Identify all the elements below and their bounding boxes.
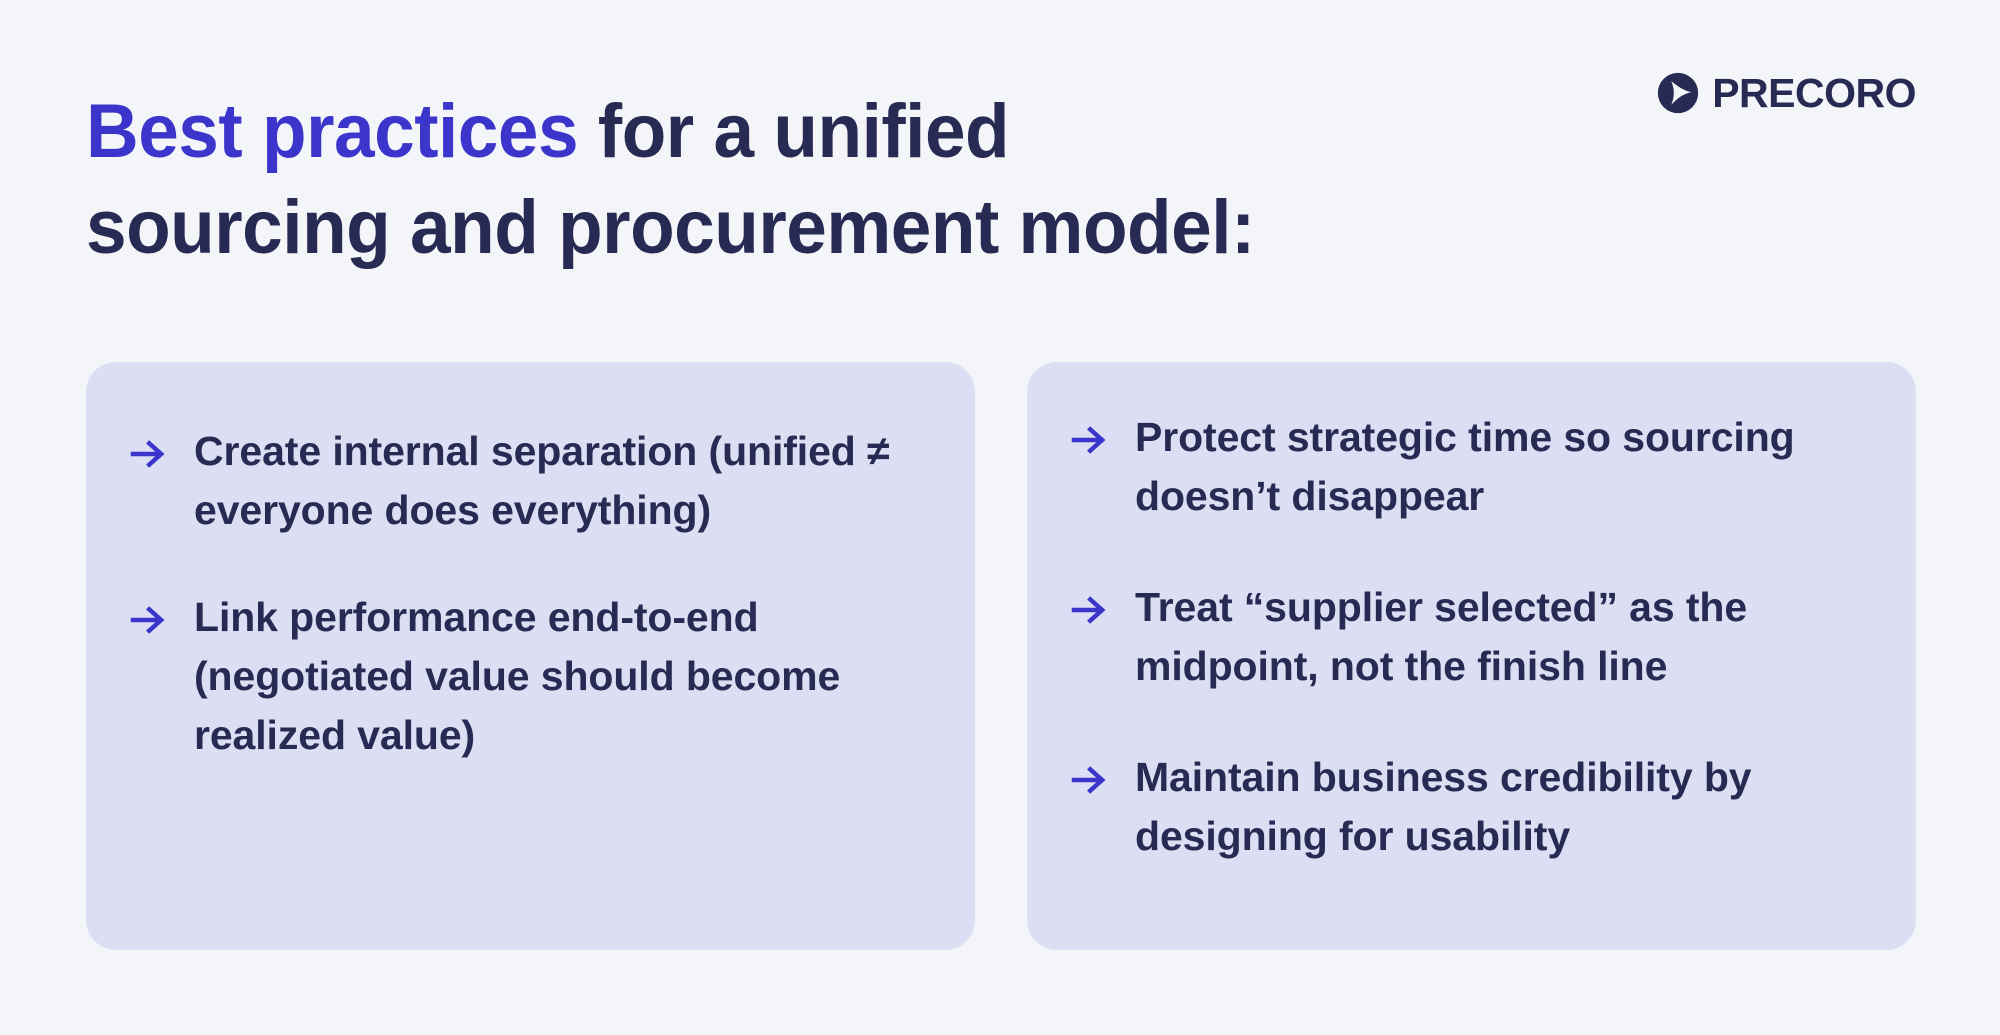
list-item-label: Treat “supplier selected” as the midpoin… [1135,578,1855,696]
precoro-circle-play-icon [1657,72,1699,114]
left-card-bullet-list: Create internal separation (unified ≠ ev… [128,422,919,765]
page-title-line2: sourcing and procurement model: [86,185,1255,270]
list-item: Protect strategic time so sourcing doesn… [1069,408,1860,526]
best-practices-cards: Create internal separation (unified ≠ ev… [86,362,1916,950]
arrow-right-icon [1069,590,1109,630]
page-title-line1-rest: for a unified [578,89,1009,174]
arrow-right-icon [1069,760,1109,800]
list-item: Treat “supplier selected” as the midpoin… [1069,578,1860,696]
arrow-right-icon [1069,420,1109,460]
precoro-wordmark: PRECORO [1712,73,1916,114]
page-title: Best practices for a unified sourcing an… [86,84,1430,276]
precoro-logo: PRECORO [1657,72,1916,114]
left-card: Create internal separation (unified ≠ ev… [86,362,975,950]
arrow-right-icon [128,600,168,640]
arrow-right-icon [128,434,168,474]
right-card-bullet-list: Protect strategic time so sourcing doesn… [1069,408,1860,866]
list-item: Create internal separation (unified ≠ ev… [128,422,919,540]
list-item-label: Protect strategic time so sourcing doesn… [1135,408,1855,526]
right-card: Protect strategic time so sourcing doesn… [1027,362,1916,950]
list-item-label: Create internal separation (unified ≠ ev… [194,422,894,540]
list-item: Link performance end-to-end (negotiated … [128,588,919,765]
page-title-accent: Best practices [86,89,578,174]
list-item: Maintain business credibility by designi… [1069,748,1860,866]
list-item-label: Maintain business credibility by designi… [1135,748,1855,866]
slide-root: PRECORO Best practices for a unified sou… [0,0,2000,1035]
list-item-label: Link performance end-to-end (negotiated … [194,588,894,765]
